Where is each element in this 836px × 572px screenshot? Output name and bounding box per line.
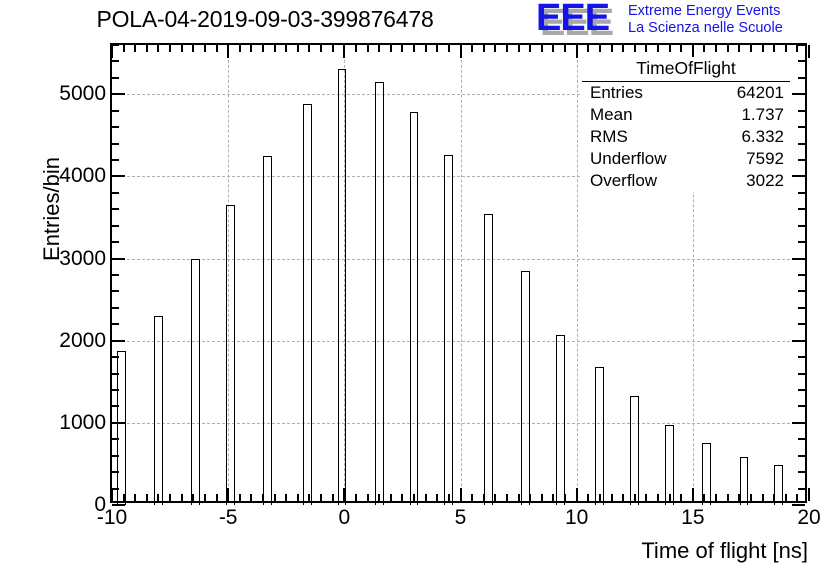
- y-tick-minor-right: [798, 126, 805, 128]
- y-tick-minor: [112, 471, 119, 473]
- x-tick-minor-top: [448, 45, 450, 52]
- y-tick-label: 3000: [59, 247, 106, 271]
- y-tick-minor-right: [798, 356, 805, 358]
- y-tick-major-right: [792, 422, 805, 424]
- x-tick-minor-top: [506, 45, 508, 52]
- x-tick-minor-top: [727, 45, 729, 52]
- gridline-horizontal: [112, 423, 805, 424]
- y-tick-minor: [112, 110, 119, 112]
- x-tick-minor: [529, 494, 531, 501]
- x-tick-minor: [401, 494, 403, 501]
- x-tick-label: 15: [681, 506, 704, 530]
- y-tick-minor: [112, 60, 119, 62]
- x-tick-minor-top: [181, 45, 183, 52]
- x-tick-major: [692, 488, 694, 501]
- y-tick-label: 1000: [59, 411, 106, 435]
- x-tick-minor: [680, 494, 682, 501]
- x-tick-minor-top: [401, 45, 403, 52]
- x-tick-minor: [181, 494, 183, 501]
- gridline-horizontal: [112, 341, 805, 342]
- y-tick-minor-right: [798, 455, 805, 457]
- stats-row-value: 1.737: [741, 105, 784, 125]
- x-tick-minor: [599, 494, 601, 501]
- y-tick-minor-right: [798, 143, 805, 145]
- x-tick-minor: [785, 494, 787, 501]
- y-tick-minor-right: [798, 274, 805, 276]
- y-tick-minor-right: [798, 389, 805, 391]
- histogram-bar: [410, 112, 419, 505]
- x-tick-minor: [552, 494, 554, 501]
- y-tick-minor-right: [798, 373, 805, 375]
- x-tick-minor-top: [657, 45, 659, 52]
- stats-row-name: Underflow: [590, 149, 667, 169]
- x-tick-minor: [750, 494, 752, 501]
- y-tick-major: [112, 258, 125, 260]
- y-tick-minor: [112, 323, 119, 325]
- x-tick-minor-top: [634, 45, 636, 52]
- x-tick-minor-top: [297, 45, 299, 52]
- x-tick-minor-top: [762, 45, 764, 52]
- x-tick-minor-top: [483, 45, 485, 52]
- y-tick-major-right: [792, 258, 805, 260]
- x-tick-minor: [146, 494, 148, 501]
- x-tick-label: -10: [97, 506, 127, 530]
- histogram-bar: [191, 259, 200, 505]
- y-tick-minor: [112, 356, 119, 358]
- x-tick-minor: [274, 494, 276, 501]
- x-tick-major: [460, 488, 462, 501]
- x-tick-minor: [239, 494, 241, 501]
- x-tick-minor-top: [262, 45, 264, 52]
- stats-row: RMS6.332: [582, 126, 790, 148]
- x-tick-minor-top: [773, 45, 775, 52]
- y-tick-minor-right: [798, 225, 805, 227]
- stats-row-name: Overflow: [590, 171, 657, 191]
- x-tick-minor: [715, 494, 717, 501]
- stats-row-value: 3022: [746, 171, 784, 191]
- y-tick-minor: [112, 455, 119, 457]
- y-tick-major-right: [792, 175, 805, 177]
- x-tick-minor: [308, 494, 310, 501]
- x-tick-minor-top: [425, 45, 427, 52]
- x-tick-minor: [645, 494, 647, 501]
- x-tick-minor-top: [378, 45, 380, 52]
- y-tick-minor: [112, 126, 119, 128]
- histogram-bar: [595, 367, 604, 505]
- stats-row-value: 6.332: [741, 127, 784, 147]
- histogram-bar: [740, 457, 749, 505]
- x-tick-minor-top: [529, 45, 531, 52]
- x-tick-minor: [332, 494, 334, 501]
- y-tick-minor-right: [798, 208, 805, 210]
- x-tick-label: -5: [219, 506, 238, 530]
- x-tick-minor: [622, 494, 624, 501]
- x-tick-minor: [169, 494, 171, 501]
- y-tick-major-right: [792, 340, 805, 342]
- stats-row-value: 64201: [737, 83, 784, 103]
- y-tick-major: [112, 340, 125, 342]
- x-tick-major: [808, 488, 810, 501]
- y-tick-minor-right: [798, 405, 805, 407]
- x-tick-minor-top: [796, 45, 798, 52]
- x-tick-minor: [297, 494, 299, 501]
- y-tick-minor: [112, 77, 119, 79]
- x-tick-minor-top: [146, 45, 148, 52]
- x-tick-minor-top: [599, 45, 601, 52]
- y-tick-major-right: [792, 93, 805, 95]
- x-tick-minor-top: [134, 45, 136, 52]
- y-tick-label: 5000: [59, 82, 106, 106]
- x-tick-minor-top: [645, 45, 647, 52]
- stats-row-name: Mean: [590, 105, 633, 125]
- x-tick-major: [343, 488, 345, 501]
- y-tick-minor-right: [798, 488, 805, 490]
- x-tick-minor-top: [308, 45, 310, 52]
- x-tick-minor-top: [611, 45, 613, 52]
- x-tick-major-top: [460, 45, 462, 58]
- histogram-bar: [303, 104, 312, 505]
- x-tick-minor-top: [157, 45, 159, 52]
- y-tick-minor: [112, 208, 119, 210]
- x-tick-minor-top: [239, 45, 241, 52]
- y-tick-label: 2000: [59, 329, 106, 353]
- x-tick-minor-top: [320, 45, 322, 52]
- histogram-bar: [263, 156, 272, 505]
- page-title: POLA-04-2019-09-03-399876478: [0, 6, 530, 33]
- stats-row-value: 7592: [746, 149, 784, 169]
- x-tick-major: [576, 488, 578, 501]
- x-tick-minor-top: [436, 45, 438, 52]
- x-tick-minor-top: [703, 45, 705, 52]
- y-tick-minor: [112, 290, 119, 292]
- y-tick-minor-right: [798, 323, 805, 325]
- x-tick-major-top: [227, 45, 229, 58]
- x-tick-label: 5: [455, 506, 467, 530]
- x-tick-minor: [773, 494, 775, 501]
- eee-logo: EEE EEE Extreme Energy Events La Scienza…: [536, 2, 836, 38]
- histogram-bar: [521, 271, 530, 505]
- x-tick-minor-top: [587, 45, 589, 52]
- x-tick-minor: [669, 494, 671, 501]
- x-tick-major-top: [808, 45, 810, 58]
- x-tick-minor: [796, 494, 798, 501]
- x-tick-minor: [634, 494, 636, 501]
- y-tick-major: [112, 175, 125, 177]
- stats-row-name: RMS: [590, 127, 628, 147]
- x-tick-minor: [216, 494, 218, 501]
- x-tick-minor-top: [750, 45, 752, 52]
- x-tick-minor: [157, 494, 159, 501]
- histogram-bar: [375, 82, 384, 505]
- eee-logo-text: Extreme Energy Events La Scienza nelle S…: [628, 3, 783, 36]
- x-tick-minor: [587, 494, 589, 501]
- y-tick-minor-right: [798, 241, 805, 243]
- y-tick-minor: [112, 143, 119, 145]
- y-tick-minor-right: [798, 471, 805, 473]
- x-tick-minor: [518, 494, 520, 501]
- histogram-bar: [556, 335, 565, 505]
- x-tick-minor-top: [332, 45, 334, 52]
- stats-row: Underflow7592: [582, 148, 790, 170]
- x-tick-minor-top: [552, 45, 554, 52]
- x-tick-minor: [436, 494, 438, 501]
- x-tick-label: 20: [797, 506, 820, 530]
- x-tick-minor: [250, 494, 252, 501]
- x-tick-minor: [483, 494, 485, 501]
- histogram-bar: [665, 425, 674, 506]
- x-tick-minor-top: [738, 45, 740, 52]
- eee-logo-line1: Extreme Energy Events: [628, 3, 783, 20]
- x-tick-minor: [703, 494, 705, 501]
- histogram-bar: [774, 465, 783, 505]
- gridline-vertical: [577, 45, 578, 501]
- x-tick-minor-top: [216, 45, 218, 52]
- y-tick-minor: [112, 389, 119, 391]
- y-tick-minor-right: [798, 192, 805, 194]
- gridline-horizontal: [112, 259, 805, 260]
- x-tick-minor: [762, 494, 764, 501]
- histogram-bar: [484, 214, 493, 505]
- x-tick-minor: [192, 494, 194, 501]
- x-tick-minor: [413, 494, 415, 501]
- x-tick-minor: [738, 494, 740, 501]
- stats-row-name: Entries: [590, 83, 643, 103]
- x-tick-minor-top: [390, 45, 392, 52]
- x-tick-major: [111, 488, 113, 501]
- stats-row: Entries64201: [582, 82, 790, 104]
- y-tick-minor-right: [798, 44, 805, 46]
- x-tick-minor: [355, 494, 357, 501]
- x-tick-minor: [390, 494, 392, 501]
- y-tick-label: 4000: [59, 164, 106, 188]
- y-tick-minor: [112, 405, 119, 407]
- y-tick-minor-right: [798, 290, 805, 292]
- x-tick-minor-top: [285, 45, 287, 52]
- x-tick-minor: [134, 494, 136, 501]
- x-tick-major: [227, 488, 229, 501]
- y-tick-minor: [112, 192, 119, 194]
- histogram-bar: [338, 69, 347, 505]
- gridline-vertical: [461, 45, 462, 501]
- histogram-bar: [630, 396, 639, 505]
- x-tick-minor-top: [471, 45, 473, 52]
- y-tick-minor-right: [798, 307, 805, 309]
- x-tick-minor-top: [494, 45, 496, 52]
- stats-title: TimeOfFlight: [582, 57, 790, 82]
- y-tick-minor: [112, 488, 119, 490]
- x-tick-minor: [204, 494, 206, 501]
- x-tick-minor-top: [715, 45, 717, 52]
- x-tick-minor-top: [669, 45, 671, 52]
- y-tick-minor: [112, 307, 119, 309]
- y-tick-minor: [112, 373, 119, 375]
- x-tick-minor: [285, 494, 287, 501]
- x-tick-minor-top: [564, 45, 566, 52]
- x-tick-major-top: [343, 45, 345, 58]
- histogram-bar: [226, 205, 235, 505]
- x-tick-minor: [262, 494, 264, 501]
- histogram-bar: [444, 155, 453, 505]
- x-tick-minor-top: [367, 45, 369, 52]
- x-tick-minor: [727, 494, 729, 501]
- root-canvas: POLA-04-2019-09-03-399876478 EEE EEE Ext…: [0, 0, 836, 572]
- x-tick-minor: [425, 494, 427, 501]
- stats-row: Overflow3022: [582, 170, 790, 192]
- x-tick-minor-top: [518, 45, 520, 52]
- x-tick-major-top: [111, 45, 113, 58]
- y-tick-minor: [112, 225, 119, 227]
- y-tick-minor: [112, 44, 119, 46]
- y-tick-minor: [112, 159, 119, 161]
- x-tick-minor-top: [785, 45, 787, 52]
- y-tick-minor-right: [798, 77, 805, 79]
- x-tick-minor-top: [541, 45, 543, 52]
- y-tick-minor-right: [798, 159, 805, 161]
- x-tick-minor-top: [622, 45, 624, 52]
- eee-logo-line2: La Scienza nelle Scuole: [628, 20, 783, 37]
- x-tick-minor: [123, 494, 125, 501]
- stats-row: Mean1.737: [582, 104, 790, 126]
- x-tick-minor-top: [123, 45, 125, 52]
- x-tick-minor-top: [204, 45, 206, 52]
- eee-logo-mark: EEE: [536, 0, 609, 37]
- x-tick-label: 0: [338, 506, 350, 530]
- x-tick-minor: [657, 494, 659, 501]
- y-tick-minor-right: [798, 438, 805, 440]
- x-tick-minor-top: [680, 45, 682, 52]
- y-tick-minor-right: [798, 110, 805, 112]
- x-tick-minor: [320, 494, 322, 501]
- stats-box: TimeOfFlight Entries64201Mean1.737RMS6.3…: [582, 57, 790, 192]
- stats-rows: Entries64201Mean1.737RMS6.332Underflow75…: [582, 82, 790, 192]
- x-axis-title: Time of flight [ns]: [440, 538, 808, 564]
- y-tick-minor-right: [798, 60, 805, 62]
- x-tick-minor-top: [413, 45, 415, 52]
- y-tick-minor: [112, 241, 119, 243]
- x-tick-major-top: [576, 45, 578, 58]
- x-tick-minor: [378, 494, 380, 501]
- x-tick-minor: [506, 494, 508, 501]
- x-tick-minor-top: [274, 45, 276, 52]
- x-tick-minor: [471, 494, 473, 501]
- y-tick-major: [112, 422, 125, 424]
- histogram-bar: [154, 316, 163, 505]
- x-tick-minor: [494, 494, 496, 501]
- x-tick-minor: [448, 494, 450, 501]
- x-tick-minor-top: [192, 45, 194, 52]
- y-tick-major: [112, 93, 125, 95]
- x-tick-minor-top: [169, 45, 171, 52]
- x-tick-minor: [611, 494, 613, 501]
- y-tick-minor: [112, 274, 119, 276]
- x-tick-minor-top: [250, 45, 252, 52]
- x-tick-minor: [367, 494, 369, 501]
- x-tick-label: 10: [565, 506, 588, 530]
- x-tick-minor: [564, 494, 566, 501]
- x-tick-minor: [541, 494, 543, 501]
- y-tick-minor: [112, 438, 119, 440]
- x-tick-minor-top: [355, 45, 357, 52]
